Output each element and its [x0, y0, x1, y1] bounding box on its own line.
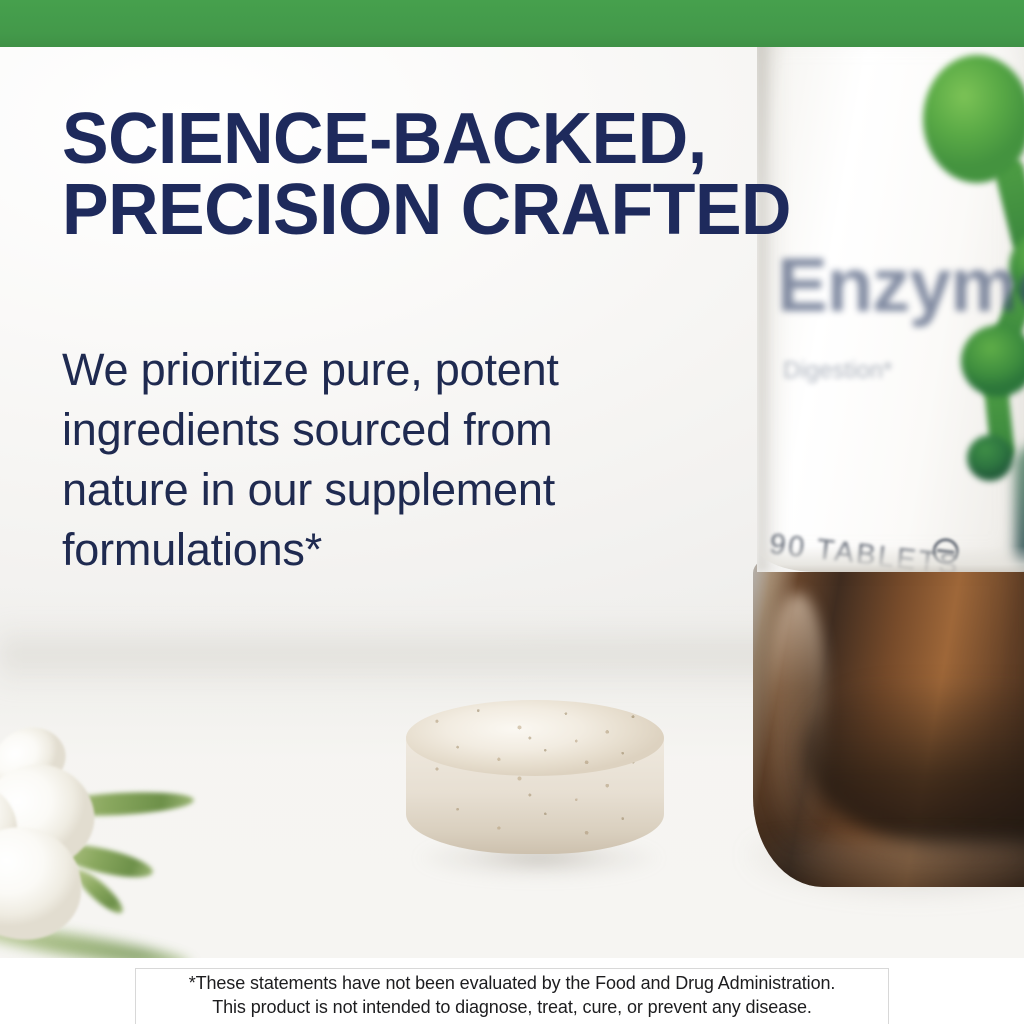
fda-disclaimer-box: *These statements have not been evaluate…	[135, 968, 889, 1024]
white-flower	[0, 687, 228, 958]
top-green-band	[0, 0, 1024, 47]
page-title: SCIENCE-BACKED, PRECISION CRAFTED	[62, 104, 935, 247]
supplement-tablet	[406, 700, 664, 872]
disclaimer-line-2: This product is not intended to diagnose…	[146, 996, 878, 1020]
label-brand-name: Enzymes	[777, 242, 1024, 329]
label-bottom-edge	[757, 546, 1024, 572]
subheadline-text: We prioritize pure, potent ingredients s…	[62, 340, 682, 579]
molecule-node	[967, 435, 1013, 481]
label-subtitle: Digestion*	[783, 357, 892, 385]
molecule-node	[961, 325, 1024, 397]
tablet-speckles	[406, 700, 664, 776]
bottle-cast-shadow	[745, 837, 1024, 927]
molecule-node	[923, 55, 1024, 183]
product-marketing-banner: Enzymes Digestion* 90 TABLETS ⊖	[0, 0, 1024, 1024]
disclaimer-line-1: *These statements have not been evaluate…	[146, 972, 878, 996]
tablet-top-face	[406, 700, 664, 776]
footer-bar: *These statements have not been evaluate…	[0, 958, 1024, 1024]
